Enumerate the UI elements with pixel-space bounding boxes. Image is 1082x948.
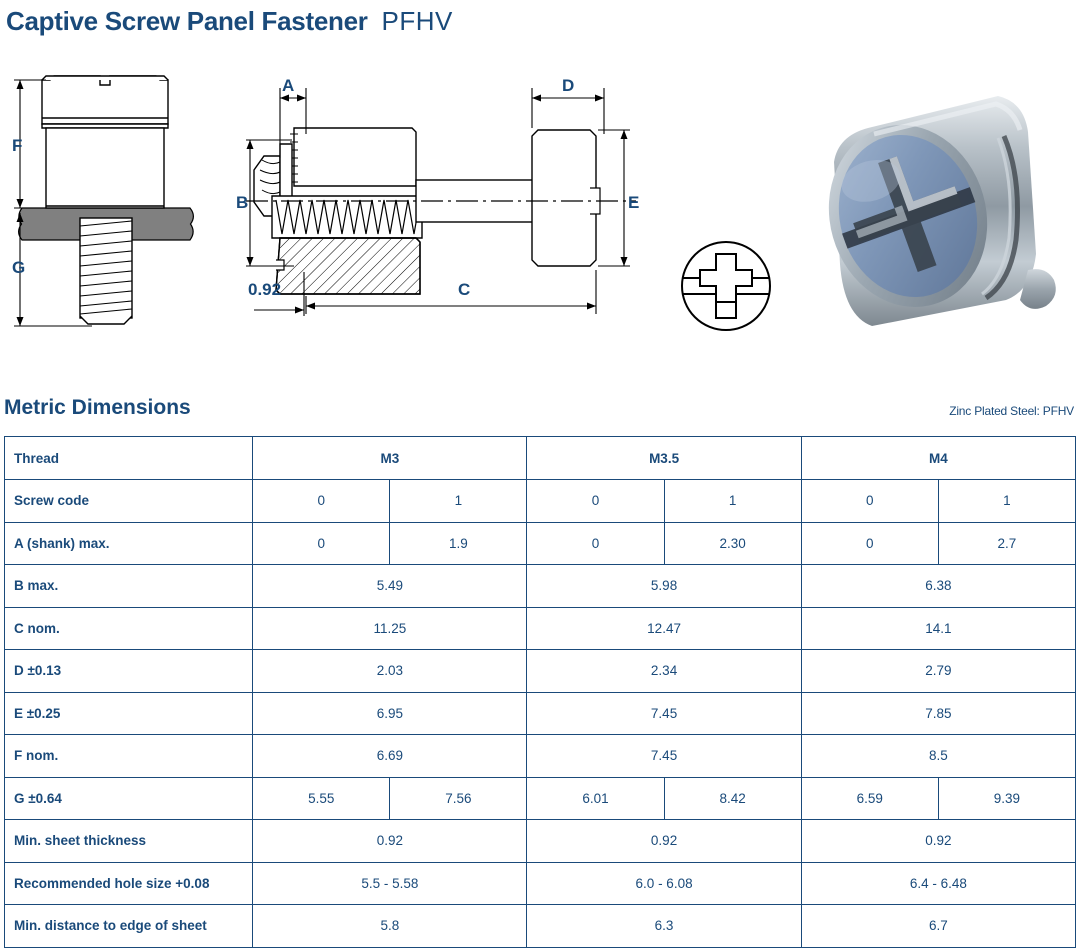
row-label: Recommended hole size +0.08 bbox=[5, 862, 253, 905]
row-label: F nom. bbox=[5, 735, 253, 778]
table-header-row: ThreadM3M3.5M4 bbox=[5, 437, 1076, 480]
table-row: E ±0.256.957.457.85 bbox=[5, 692, 1076, 735]
figure-product-render bbox=[800, 58, 1082, 358]
cell-value: 6.7 bbox=[801, 905, 1075, 948]
table-row: F nom.6.697.458.5 bbox=[5, 735, 1076, 778]
row-label: Min. distance to edge of sheet bbox=[5, 905, 253, 948]
cell-value: 2.03 bbox=[253, 650, 527, 693]
table-row: C nom.11.2512.4714.1 bbox=[5, 607, 1076, 650]
cell-value: 8.42 bbox=[664, 777, 801, 820]
table-body: ThreadM3M3.5M4Screw code010101A (shank) … bbox=[5, 437, 1076, 948]
cell-value: 0 bbox=[801, 480, 938, 523]
cell-value: 0 bbox=[527, 522, 664, 565]
cell-value: 0 bbox=[801, 522, 938, 565]
figure-cross-section: A B C D E 0.92 bbox=[232, 58, 652, 338]
dim-label-b: B bbox=[236, 193, 248, 213]
page-title: Captive Screw Panel Fastener PFHV bbox=[6, 6, 453, 37]
material-note: Zinc Plated Steel: PFHV bbox=[949, 404, 1074, 418]
cell-value: 11.25 bbox=[253, 607, 527, 650]
cell-value: 7.45 bbox=[527, 692, 801, 735]
table-row: G ±0.645.557.566.018.426.599.39 bbox=[5, 777, 1076, 820]
row-label: B max. bbox=[5, 565, 253, 608]
table-header-label: Thread bbox=[5, 437, 253, 480]
dimensions-table-wrap: ThreadM3M3.5M4Screw code010101A (shank) … bbox=[4, 436, 1076, 948]
cell-value: 2.30 bbox=[664, 522, 801, 565]
cell-value: 6.38 bbox=[801, 565, 1075, 608]
row-label: D ±0.13 bbox=[5, 650, 253, 693]
table-row: B max.5.495.986.38 bbox=[5, 565, 1076, 608]
cell-value: 12.47 bbox=[527, 607, 801, 650]
dim-label-d: D bbox=[562, 76, 574, 96]
cell-value: 0.92 bbox=[527, 820, 801, 863]
row-label: Min. sheet thickness bbox=[5, 820, 253, 863]
title-text: Captive Screw Panel Fastener bbox=[6, 6, 368, 37]
row-label: C nom. bbox=[5, 607, 253, 650]
cell-value: 5.55 bbox=[253, 777, 390, 820]
row-label: E ±0.25 bbox=[5, 692, 253, 735]
cell-value: 0 bbox=[527, 480, 664, 523]
table-row: Min. sheet thickness0.920.920.92 bbox=[5, 820, 1076, 863]
cell-value: 5.49 bbox=[253, 565, 527, 608]
dim-label-g: G bbox=[12, 258, 25, 278]
product-code: PFHV bbox=[382, 6, 453, 37]
cell-value: 0.92 bbox=[801, 820, 1075, 863]
dim-value-min-sheet: 0.92 bbox=[248, 280, 281, 300]
cell-value: 6.0 - 6.08 bbox=[527, 862, 801, 905]
cell-value: 6.3 bbox=[527, 905, 801, 948]
drive-head-svg bbox=[668, 228, 788, 348]
cell-value: 1.9 bbox=[390, 522, 527, 565]
cell-value: 6.4 - 6.48 bbox=[801, 862, 1075, 905]
cell-value: 6.01 bbox=[527, 777, 664, 820]
figure-drive-head bbox=[668, 228, 788, 348]
cell-value: 5.8 bbox=[253, 905, 527, 948]
cell-value: 0 bbox=[253, 480, 390, 523]
product-render-svg bbox=[800, 58, 1082, 358]
cell-value: 6.95 bbox=[253, 692, 527, 735]
drawing-area: F G bbox=[0, 58, 1082, 358]
cell-value: 7.56 bbox=[390, 777, 527, 820]
table-row: A (shank) max.01.902.3002.7 bbox=[5, 522, 1076, 565]
dim-label-c: C bbox=[458, 280, 470, 300]
cell-value: 1 bbox=[938, 480, 1075, 523]
table-row: Screw code010101 bbox=[5, 480, 1076, 523]
cell-value: 0 bbox=[253, 522, 390, 565]
figure-installed-view: F G bbox=[0, 58, 230, 348]
cell-value: 2.34 bbox=[527, 650, 801, 693]
dimensions-table: ThreadM3M3.5M4Screw code010101A (shank) … bbox=[4, 436, 1076, 948]
installed-view-svg bbox=[0, 58, 230, 348]
cell-value: 7.85 bbox=[801, 692, 1075, 735]
row-label: Screw code bbox=[5, 480, 253, 523]
table-row: Min. distance to edge of sheet5.86.36.7 bbox=[5, 905, 1076, 948]
dim-label-e: E bbox=[628, 193, 639, 213]
cell-value: 2.79 bbox=[801, 650, 1075, 693]
cell-value: 1 bbox=[664, 480, 801, 523]
cell-value: 6.59 bbox=[801, 777, 938, 820]
table-row: Recommended hole size +0.085.5 - 5.586.0… bbox=[5, 862, 1076, 905]
row-label: G ±0.64 bbox=[5, 777, 253, 820]
section-heading: Metric Dimensions bbox=[4, 396, 191, 420]
cell-value: 7.45 bbox=[527, 735, 801, 778]
row-label: A (shank) max. bbox=[5, 522, 253, 565]
cell-value: 5.98 bbox=[527, 565, 801, 608]
dim-label-f: F bbox=[12, 136, 22, 156]
thread-group-M3.5: M3.5 bbox=[527, 437, 801, 480]
cell-value: 0.92 bbox=[253, 820, 527, 863]
dim-label-a: A bbox=[282, 76, 294, 96]
cross-section-svg bbox=[232, 58, 652, 338]
thread-group-M3: M3 bbox=[253, 437, 527, 480]
datasheet-page: Captive Screw Panel Fastener PFHV bbox=[0, 0, 1082, 948]
cell-value: 8.5 bbox=[801, 735, 1075, 778]
thread-group-M4: M4 bbox=[801, 437, 1075, 480]
cell-value: 9.39 bbox=[938, 777, 1075, 820]
cell-value: 1 bbox=[390, 480, 527, 523]
table-row: D ±0.132.032.342.79 bbox=[5, 650, 1076, 693]
cell-value: 2.7 bbox=[938, 522, 1075, 565]
cell-value: 14.1 bbox=[801, 607, 1075, 650]
cell-value: 5.5 - 5.58 bbox=[253, 862, 527, 905]
cell-value: 6.69 bbox=[253, 735, 527, 778]
